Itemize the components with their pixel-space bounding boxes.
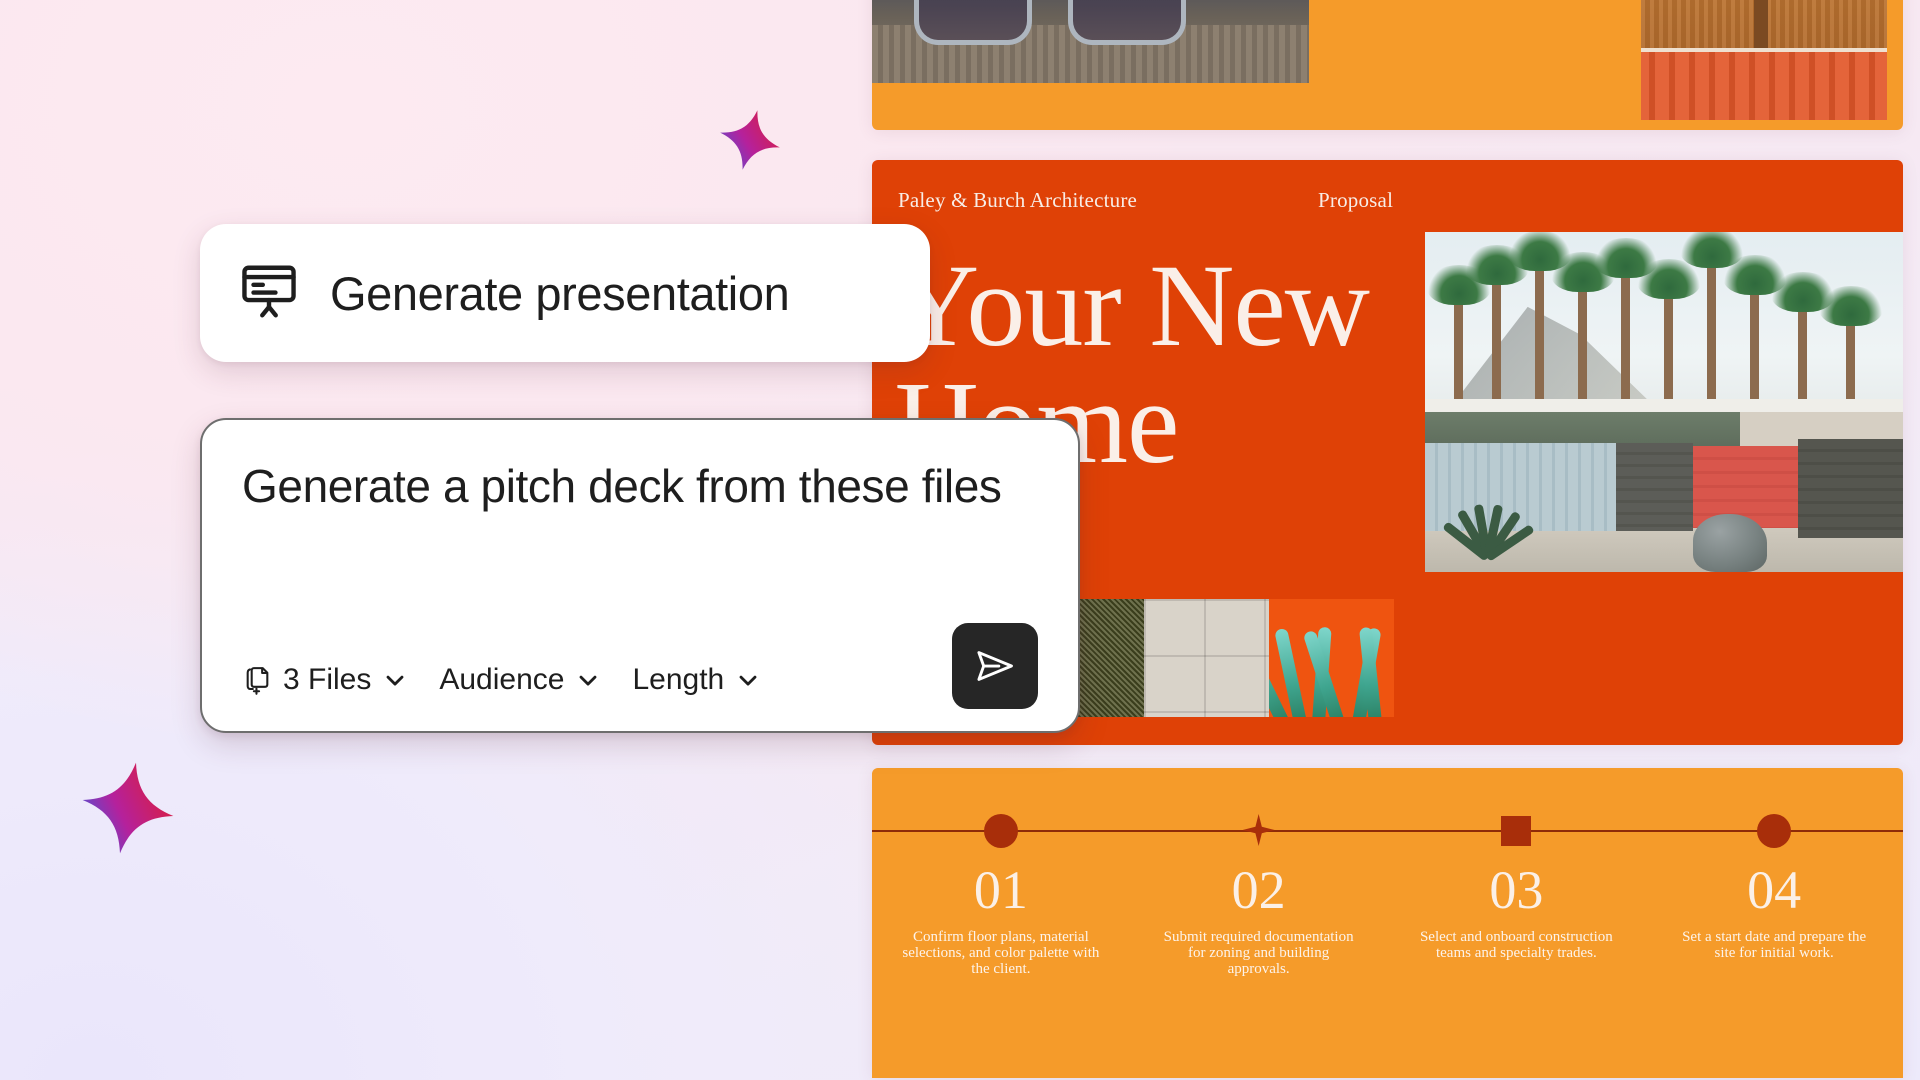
timeline-step-description: Submit required documentation for zoning… xyxy=(1159,929,1359,978)
sparkle-icon xyxy=(718,108,782,172)
hero-doc-type: Proposal xyxy=(1318,188,1393,213)
timeline-step-description: Confirm floor plans, material selections… xyxy=(901,929,1101,978)
slide-project-timeline[interactable]: 01 Confirm floor plans, material selecti… xyxy=(872,768,1903,1078)
palm-tree xyxy=(1846,307,1855,409)
add-file-icon xyxy=(242,665,273,696)
tile-swatch xyxy=(1144,599,1269,717)
chair-left xyxy=(914,0,1032,45)
palm-tree xyxy=(1664,280,1673,409)
audience-chip-label: Audience xyxy=(439,663,564,697)
timeline-marker-star-icon xyxy=(1243,814,1275,846)
interior-chairs-photo xyxy=(872,0,1309,83)
chevron-down-icon xyxy=(381,666,409,694)
length-chip-label: Length xyxy=(632,663,724,697)
timeline-step-number: 04 xyxy=(1747,863,1801,917)
timeline-marker-square-icon xyxy=(1501,814,1531,846)
dark-fence-left xyxy=(1616,443,1692,531)
timeline-step: 01 Confirm floor plans, material selecti… xyxy=(872,768,1130,1078)
timeline-step: 03 Select and onboard construction teams… xyxy=(1388,768,1646,1078)
files-chip-label: 3 Files xyxy=(283,663,371,697)
timeline-steps: 01 Confirm floor plans, material selecti… xyxy=(872,768,1903,1078)
timeline-marker-circle-icon xyxy=(984,814,1018,848)
agave-plant xyxy=(1435,486,1545,558)
timeline-step-description: Set a start date and prepare the site fo… xyxy=(1674,929,1874,961)
palm-tree xyxy=(1621,259,1630,409)
presentation-icon xyxy=(238,260,300,327)
prompt-input-card[interactable]: Generate a pitch deck from these files 3… xyxy=(200,418,1080,733)
wood-wall-sofa-photo xyxy=(1641,0,1887,120)
roof-line xyxy=(1425,399,1903,413)
palm-tree xyxy=(1578,273,1587,409)
suggestion-label: Generate presentation xyxy=(330,266,789,321)
audience-chip[interactable]: Audience xyxy=(439,663,602,697)
hero-brand: Paley & Burch Architecture xyxy=(898,188,1318,213)
palm-tree xyxy=(1535,252,1544,408)
prompt-text[interactable]: Generate a pitch deck from these files xyxy=(242,454,1038,518)
timeline-step-description: Select and onboard construction teams an… xyxy=(1416,929,1616,961)
palm-tree xyxy=(1750,276,1759,409)
dark-fence-right xyxy=(1798,439,1903,538)
timeline-step: 02 Submit required documentation for zon… xyxy=(1130,768,1388,1078)
timeline-step-number: 02 xyxy=(1232,863,1286,917)
app-background: Paley & Burch Architecture Proposal Your… xyxy=(0,0,1920,1080)
timeline-step-number: 01 xyxy=(974,863,1028,917)
files-chip[interactable]: 3 Files xyxy=(242,663,409,697)
palm-tree xyxy=(1492,266,1501,409)
timeline-step: 04 Set a start date and prepare the site… xyxy=(1645,768,1903,1078)
timeline-step-number: 03 xyxy=(1489,863,1543,917)
slide-interior-moodboard[interactable] xyxy=(872,0,1903,130)
hero-header: Paley & Burch Architecture Proposal xyxy=(898,188,1877,213)
length-chip[interactable]: Length xyxy=(632,663,762,697)
palm-tree xyxy=(1798,293,1807,409)
red-garage-door xyxy=(1693,446,1798,528)
agave-swatch xyxy=(1269,599,1394,717)
house-photo xyxy=(1425,232,1903,572)
generate-presentation-suggestion[interactable]: Generate presentation xyxy=(200,224,930,362)
chair-right xyxy=(1068,0,1186,45)
chevron-down-icon xyxy=(734,666,762,694)
chevron-down-icon xyxy=(574,666,602,694)
boulder xyxy=(1693,514,1767,572)
send-button[interactable] xyxy=(952,623,1038,709)
timeline-marker-circle-icon xyxy=(1757,814,1791,848)
palm-tree xyxy=(1707,249,1716,409)
prompt-toolbar: 3 Files Audience Length xyxy=(242,663,1038,697)
orange-sofa xyxy=(1641,48,1887,120)
palm-tree xyxy=(1454,286,1463,408)
sparkle-icon xyxy=(80,760,176,856)
send-icon xyxy=(972,643,1018,689)
